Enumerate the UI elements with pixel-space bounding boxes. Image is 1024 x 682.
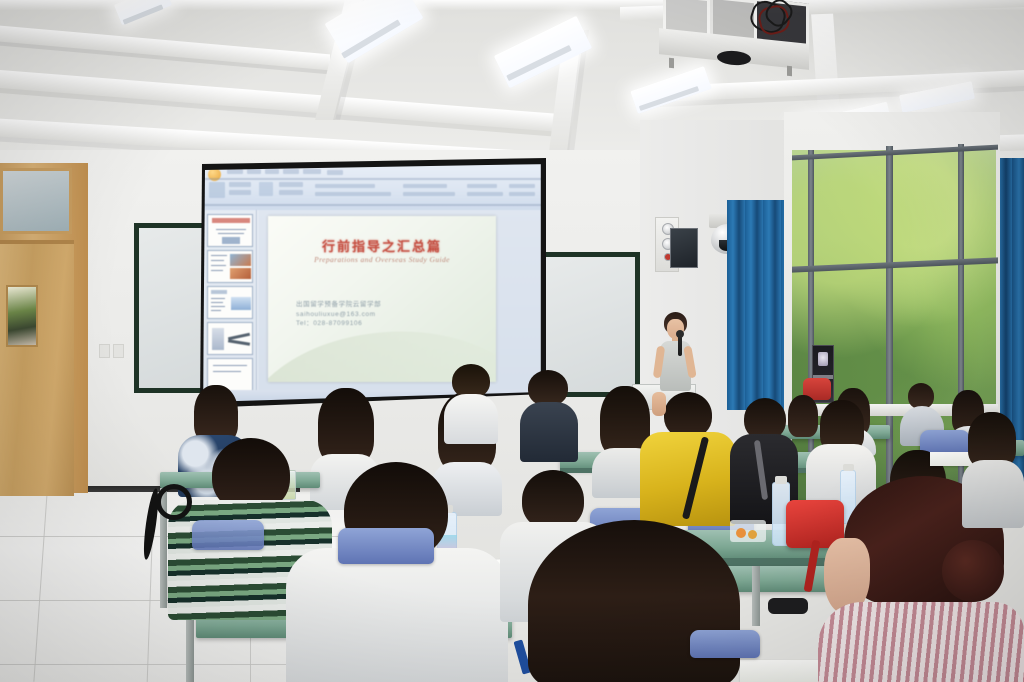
slide-contact-block: 出国留学预备学院云留学部 saihouliuxue@163.com Tel：02…: [296, 300, 476, 329]
slide-stage: 行前指导之汇总篇 Preparations and Overseas Study…: [258, 210, 541, 390]
wall-speaker-panel: [670, 228, 698, 268]
powerpoint-ribbon: [203, 164, 541, 210]
torso-striped-pink: [818, 602, 1024, 682]
list-item[interactable]: [207, 322, 253, 355]
student-with-glasses: [520, 370, 578, 460]
contact-line-email: saihouliuxue@163.com: [296, 310, 476, 320]
torso: [962, 460, 1024, 528]
torso: [444, 394, 498, 444]
contact-line-department: 出国留学预备学院云留学部: [296, 300, 476, 310]
whiteboard-left: [134, 223, 208, 393]
classroom-scene: 行前指导之汇总篇 Preparations and Overseas Study…: [0, 0, 1024, 682]
window-mullion-vertical: [886, 146, 893, 500]
head: [452, 364, 490, 398]
microphone-head-icon: [676, 330, 684, 338]
bag-strap: [156, 484, 192, 520]
slide-title: 行前指导之汇总篇: [268, 236, 496, 255]
bottle-cap: [775, 476, 787, 484]
head: [528, 370, 568, 406]
door-window: [6, 285, 38, 347]
torso-white: [286, 548, 508, 682]
slide-thumbnail-pane[interactable]: [203, 210, 257, 402]
contact-line-phone: Tel：028-87099106: [296, 319, 476, 329]
desk-leg: [752, 566, 760, 626]
light-switch-2[interactable]: [113, 344, 124, 358]
chair[interactable]: [338, 528, 434, 564]
list-item[interactable]: [207, 214, 253, 247]
list-item[interactable]: [207, 286, 253, 319]
slide-subtitle: Preparations and Overseas Study Guide: [268, 255, 496, 264]
student: [444, 364, 498, 442]
bottle-cap: [843, 464, 854, 471]
chair[interactable]: [690, 630, 760, 658]
necklace-image-icon: [818, 352, 828, 366]
classroom-door[interactable]: [0, 240, 74, 496]
curtain-left[interactable]: [727, 200, 787, 410]
door-transom-window: [0, 168, 72, 234]
torso: [520, 402, 578, 462]
student: [962, 412, 1024, 522]
list-item[interactable]: [207, 250, 253, 283]
ceiling-projector: [655, 0, 815, 76]
light-switch-1[interactable]: [99, 344, 110, 358]
chair[interactable]: [192, 520, 264, 550]
current-slide: 行前指导之汇总篇 Preparations and Overseas Study…: [268, 216, 496, 382]
white-shirt-student: [286, 462, 508, 682]
